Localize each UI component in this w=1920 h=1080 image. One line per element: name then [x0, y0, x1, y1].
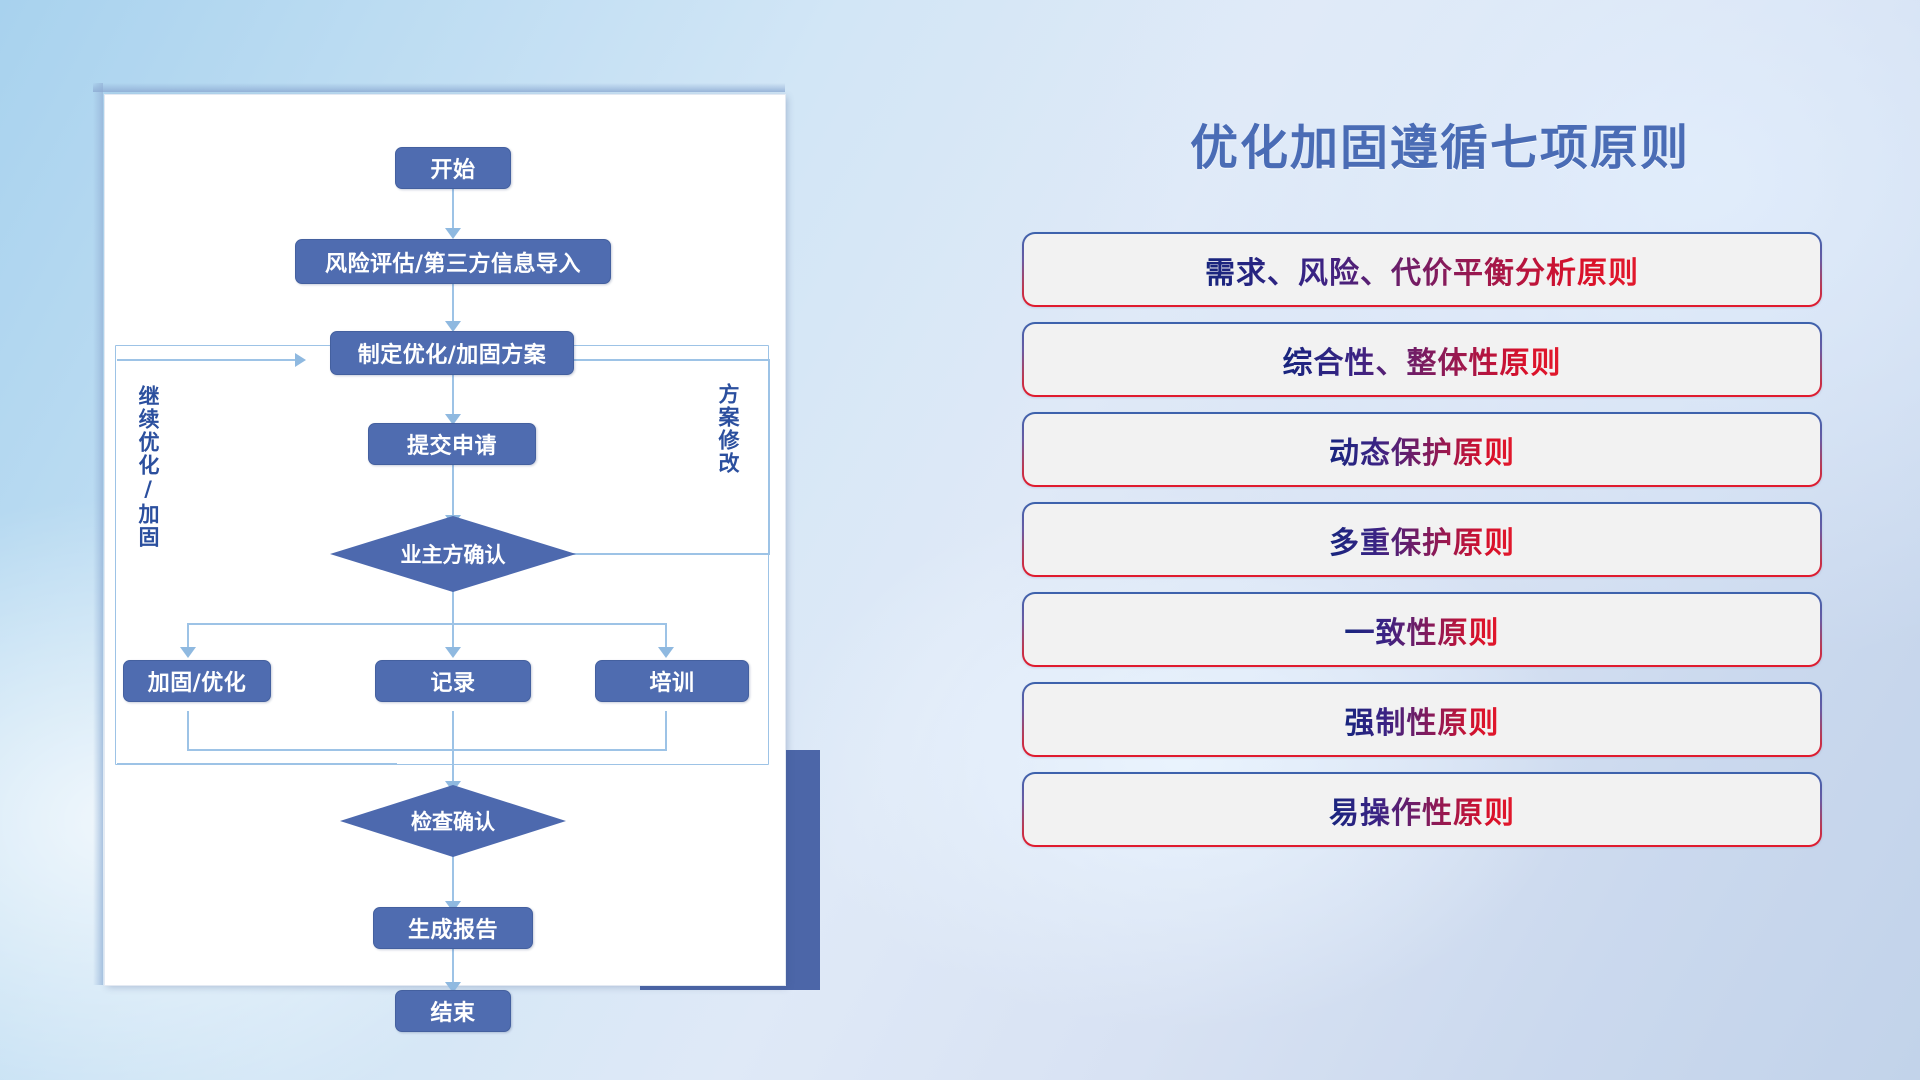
- connector-fanin-mid: [452, 711, 454, 751]
- flow-node-label: 制定优化/加固方案: [358, 337, 547, 369]
- flow-node-training[interactable]: 培训: [595, 660, 749, 702]
- flow-node-label: 结束: [430, 995, 475, 1027]
- principle-card[interactable]: 动态保护原则: [1022, 412, 1822, 487]
- edge-label-continue-optimize: 继续优化/加固: [137, 385, 159, 549]
- principle-card[interactable]: 一致性原则: [1022, 592, 1822, 667]
- flow-node-generate-report[interactable]: 生成报告: [373, 907, 533, 949]
- flow-node-label: 检查确认: [411, 806, 495, 836]
- flow-node-label: 培训: [649, 665, 694, 697]
- connector-start-assess: [452, 182, 454, 234]
- principle-label: 多重保护原则: [1329, 518, 1515, 562]
- connector-left-loop-into-plan: [117, 359, 299, 361]
- flow-node-harden-optimize[interactable]: 加固/优化: [123, 660, 271, 702]
- connector-verify-report: [452, 855, 454, 907]
- principle-card[interactable]: 多重保护原则: [1022, 502, 1822, 577]
- connector-plan-submit: [452, 368, 454, 420]
- connector-fanout-top: [187, 623, 667, 625]
- flow-node-plan[interactable]: 制定优化/加固方案: [330, 331, 574, 375]
- arrowhead-fanout-left: [180, 647, 196, 658]
- connector-fanin-bottom: [187, 749, 667, 751]
- flow-node-end[interactable]: 结束: [395, 990, 511, 1032]
- principle-label: 综合性、整体性原则: [1283, 338, 1562, 382]
- flow-node-submit-application[interactable]: 提交申请: [368, 423, 536, 465]
- connector-right-loop-vertical: [768, 359, 770, 555]
- principle-card[interactable]: 易操作性原则: [1022, 772, 1822, 847]
- arrowhead-fanout-mid: [445, 647, 461, 658]
- principle-label: 强制性原则: [1345, 698, 1500, 742]
- principle-card[interactable]: 综合性、整体性原则: [1022, 322, 1822, 397]
- flowchart-panel: 开始 风险评估/第三方信息导入 制定优化/加固方案 提交申请 业主方确认 加固/…: [105, 95, 785, 985]
- flow-node-start[interactable]: 开始: [395, 147, 511, 189]
- connector-fanin-right: [665, 711, 667, 751]
- page-title: 优化加固遵循七项原则: [1040, 108, 1840, 178]
- principle-label: 一致性原则: [1345, 608, 1500, 652]
- connector-fanin-left: [187, 711, 189, 751]
- arrowhead-left-loop-plan: [295, 353, 306, 367]
- arrowhead-start-assess: [445, 228, 461, 239]
- principle-label: 动态保护原则: [1329, 428, 1515, 472]
- flow-node-label: 开始: [430, 152, 475, 184]
- connector-approve-to-right-loop: [548, 553, 769, 555]
- flow-node-record[interactable]: 记录: [375, 660, 531, 702]
- connector-verify-to-left-loop: [117, 763, 397, 765]
- principle-card[interactable]: 需求、风险、代价平衡分析原则: [1022, 232, 1822, 307]
- principle-label: 易操作性原则: [1329, 788, 1515, 832]
- slide-canvas: 开始 风险评估/第三方信息导入 制定优化/加固方案 提交申请 业主方确认 加固/…: [0, 0, 1920, 1080]
- flow-node-label: 风险评估/第三方信息导入: [325, 246, 581, 278]
- edge-label-plan-revision: 方案修改: [717, 383, 739, 475]
- principles-list: 需求、风险、代价平衡分析原则 综合性、整体性原则 动态保护原则 多重保护原则 一…: [1022, 232, 1822, 862]
- flow-node-label: 生成报告: [408, 912, 498, 944]
- flow-node-label: 加固/优化: [148, 665, 247, 697]
- flow-node-label: 记录: [430, 665, 475, 697]
- connector-submit-approve: [452, 461, 454, 521]
- flow-node-label: 提交申请: [407, 428, 497, 460]
- flow-node-label: 业主方确认: [401, 539, 506, 569]
- arrowhead-fanout-right: [658, 647, 674, 658]
- flow-node-verify[interactable]: 检查确认: [340, 785, 566, 857]
- flow-node-risk-assessment[interactable]: 风险评估/第三方信息导入: [295, 239, 611, 284]
- principle-card[interactable]: 强制性原则: [1022, 682, 1822, 757]
- principle-label: 需求、风险、代价平衡分析原则: [1205, 248, 1639, 292]
